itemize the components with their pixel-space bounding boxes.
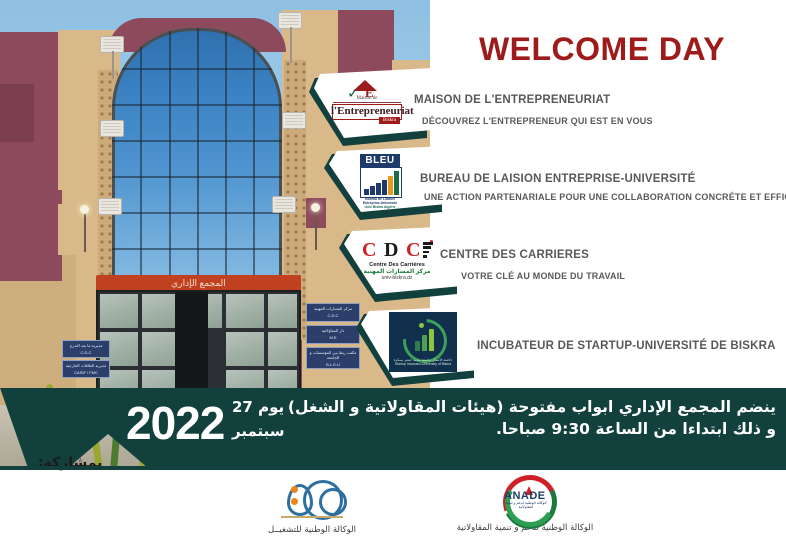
banner-line-2: و ذلك ابتداءا من الساعة 9:30 صباحا. xyxy=(256,418,776,440)
maison-entrepreneuriat-logo: ✓ E Maison de l'Entrepreneuriat Biskra xyxy=(331,80,403,127)
logo-word: l'Entrepreneuriat xyxy=(331,104,401,118)
entry-title-3: CENTRE DES CARRIERES xyxy=(440,249,589,261)
wall-plaque: مركز المسارات المهنية C.D.C xyxy=(306,303,360,322)
partner-anem-caption: الوكالة الوطنية للتشغيــل xyxy=(222,525,402,535)
entry-subtitle-3: VOTRE CLÉ AU MONDE DU TRAVAIL xyxy=(461,271,625,281)
wall-plaque-ar: مديرية العلاقات الخارجية xyxy=(63,361,109,368)
cdc-letter-d: D xyxy=(384,239,398,261)
entry-title-1: MAISON DE L'ENTREPRENEURIAT xyxy=(414,94,610,106)
wall-plaque-code: CASIF / FMC xyxy=(63,368,109,375)
wall-plaque-code: C.D.C xyxy=(63,348,109,355)
entry-title-2: BUREAU DE LAISION ENTREPRISE-UNIVERSITÉ xyxy=(420,173,696,185)
entry-title-4: INCUBATEUR DE STARTUP-UNIVERSITÉ DE BISK… xyxy=(477,340,776,352)
bleu-logo: BLEU Bureau de Liaison Entreprise-Univer… xyxy=(356,154,404,206)
lamp xyxy=(80,205,89,214)
logo-tag: Biskra xyxy=(379,117,400,124)
wall-plaque: دار المقاولاتية M.E xyxy=(306,325,360,344)
banner-line-1: ينضم المجمع الإداري ابواب مفتوحة (هيئات … xyxy=(256,396,776,418)
cdc-caption-ar: مركز المسارات المهنية xyxy=(360,268,434,275)
bleu-band: BLEU xyxy=(360,154,400,167)
divider xyxy=(333,102,401,103)
banner-text-wrap: ينضم المجمع الإداري ابواب مفتوحة (هيئات … xyxy=(256,396,776,440)
cdc-bars-icon xyxy=(423,242,433,260)
wall-plaque: مديرية ما بعد التدرج C.D.C xyxy=(62,340,110,358)
wall-plaque-ar: مركز المسارات المهنية xyxy=(307,304,359,311)
bleu-chart-frame xyxy=(360,167,402,198)
poster-root: المجمع الإداري مركز المسارات المهنية C.D… xyxy=(0,0,786,559)
ac-unit xyxy=(272,196,296,213)
ac-unit xyxy=(282,112,306,129)
anade-subtext: الوكالة الوطنية لدعم و تنمية المقاولاتية xyxy=(500,501,552,509)
bleu-acronym: BLEU xyxy=(360,154,400,167)
facade-block xyxy=(4,190,62,204)
banner-year-wrap: 2022 xyxy=(126,400,224,446)
facade-block xyxy=(0,255,62,281)
wall-plaque-code: M.E xyxy=(307,333,359,340)
wall-plaque-code: C.D.C xyxy=(307,311,359,318)
incubator-caption-ar: حاضنة الأعمال بجامعة محمد خيضر بسكرة xyxy=(394,358,453,362)
anade-logo: ANADE الوكالة الوطنية لدعم و تنمية المقا… xyxy=(482,474,568,520)
cdc-letter-c1: C xyxy=(362,239,376,261)
startup-incubator-logo: حاضنة الأعمال بجامعة محمد خيضر بسكرة Sta… xyxy=(389,312,457,372)
wall-plaque-ar: مكتب ربط بين المؤسسات و الجامعة xyxy=(307,348,359,360)
ac-unit xyxy=(98,198,122,215)
logo-maison-de: Maison de xyxy=(331,96,403,101)
lamp xyxy=(311,203,320,212)
bars-icon xyxy=(415,329,436,351)
page-title: WELCOME DAY xyxy=(432,31,772,68)
ac-unit xyxy=(100,120,124,137)
bleu-caption-ar: Univ Biskra Algérie xyxy=(357,205,403,209)
entry-subtitle-2: UNE ACTION PARTENARIALE POUR UNE COLLABO… xyxy=(424,192,786,202)
partner-anem: الوكالة الوطنية للتشغيــل xyxy=(222,478,402,535)
facade-block xyxy=(0,84,34,142)
cdc-logo: C D C Centre Des Carrières مركز المسارات… xyxy=(360,239,442,283)
wall-plaque: مديرية العلاقات الخارجية CASIF / FMC xyxy=(62,360,110,378)
cdc-letter-c2: C xyxy=(406,239,420,261)
anem-logo xyxy=(269,478,355,522)
bleu-caption-fr: Bureau de Liaison Entreprise-Université xyxy=(363,197,397,205)
wall-plaque: مكتب ربط بين المؤسسات و الجامعة B.L.E.U xyxy=(306,347,360,369)
wall-plaque-ar: دار المقاولاتية xyxy=(307,326,359,333)
event-banner: 2022 يوم 27 سبتمبر ينضم المجمع الإداري ا… xyxy=(0,388,786,468)
bleu-caption: Bureau de Liaison Entreprise-Université … xyxy=(357,197,403,209)
partner-anade: ANADE الوكالة الوطنية لدعم و تنمية المقا… xyxy=(430,474,620,533)
incubator-caption-en: Startup Incubator-University of Biskra xyxy=(395,362,451,366)
dot-icon xyxy=(419,323,424,328)
incubator-caption: حاضنة الأعمال بجامعة محمد خيضر بسكرة Sta… xyxy=(389,358,457,367)
wall-plaque-ar: مديرية ما بعد التدرج xyxy=(63,341,109,348)
banner-year: 2022 xyxy=(126,400,224,446)
banner-bottom-rule xyxy=(0,466,786,470)
wall-plaque-code: B.L.E.U xyxy=(307,360,359,367)
cdc-caption-url: univ-biskra.dz xyxy=(360,275,434,281)
entry-subtitle-1: DÉCOUVREZ L'ENTREPRENEUR QUI EST EN VOUS xyxy=(422,116,653,126)
